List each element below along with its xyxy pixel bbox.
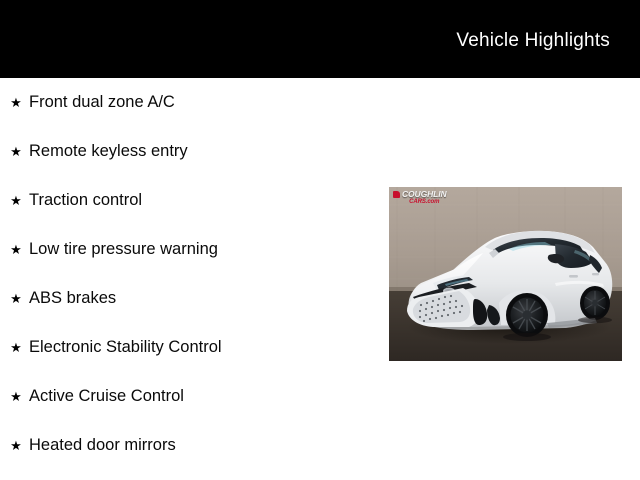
highlight-label: Remote keyless entry xyxy=(29,127,188,176)
star-bullet-icon: ★ xyxy=(9,372,23,421)
star-bullet-icon: ★ xyxy=(9,421,23,470)
list-item: ★ Low tire pressure warning xyxy=(0,225,380,274)
page-header: Vehicle Highlights xyxy=(0,0,640,78)
star-bullet-icon: ★ xyxy=(9,274,23,323)
highlight-label: Front dual zone A/C xyxy=(29,78,175,127)
highlight-label: ABS brakes xyxy=(29,274,116,323)
vehicle-photo: COUGHLIN CARS.com xyxy=(389,187,622,361)
star-bullet-icon: ★ xyxy=(9,225,23,274)
list-item: ★ Front dual zone A/C xyxy=(0,78,380,127)
list-item: ★ Traction control xyxy=(0,176,380,225)
list-item: ★ Electronic Stability Control xyxy=(0,323,380,372)
star-bullet-icon: ★ xyxy=(9,323,23,372)
star-bullet-icon: ★ xyxy=(9,176,23,225)
list-item: ★ Remote keyless entry xyxy=(0,127,380,176)
highlight-label: Traction control xyxy=(29,176,142,225)
list-item: ★ ABS brakes xyxy=(0,274,380,323)
page-title: Vehicle Highlights xyxy=(456,29,610,53)
highlight-label: Low tire pressure warning xyxy=(29,225,218,274)
highlight-label: Active Cruise Control xyxy=(29,372,184,421)
star-bullet-icon: ★ xyxy=(9,78,23,127)
highlight-label: Electronic Stability Control xyxy=(29,323,222,372)
list-item: ★ Heated door mirrors xyxy=(0,421,380,470)
vehicle-highlights-list: ★ Front dual zone A/C ★ Remote keyless e… xyxy=(0,78,380,470)
vehicle-photo-image xyxy=(389,187,622,361)
star-bullet-icon: ★ xyxy=(9,127,23,176)
list-item: ★ Active Cruise Control xyxy=(0,372,380,421)
highlight-label: Heated door mirrors xyxy=(29,421,176,470)
